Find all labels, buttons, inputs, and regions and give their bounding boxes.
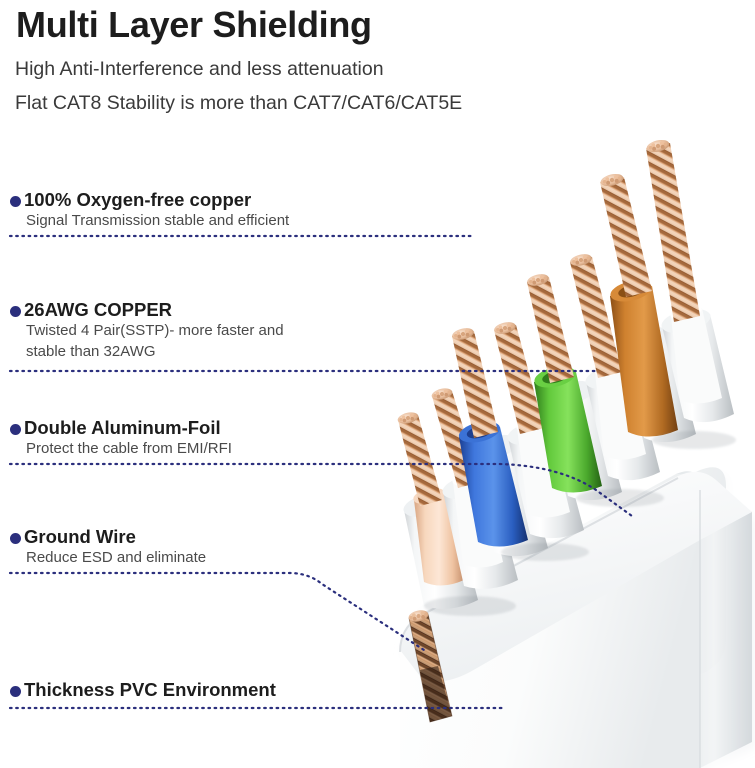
feature-heading: 26AWG COPPER	[24, 300, 172, 320]
bullet-dot-icon	[10, 533, 21, 544]
infographic-canvas: Multi Layer Shielding High Anti-Interfer…	[0, 0, 755, 768]
feature-callout-double-aluminum-foil: Double Aluminum-Foil Protect the cable f…	[10, 418, 232, 459]
feature-callout-thickness-pvc-environment: Thickness PVC Environment	[10, 680, 276, 700]
leader-line-3	[10, 464, 632, 516]
page-title: Multi Layer Shielding	[16, 4, 372, 46]
bullet-dot-icon	[10, 424, 21, 435]
feature-description: Protect the cable from EMI/RFI	[26, 439, 232, 459]
feature-description: Signal Transmission stable and efficient	[26, 211, 289, 231]
feature-description: Reduce ESD and eliminate	[26, 548, 206, 568]
feature-heading: 100% Oxygen-free copper	[24, 190, 251, 210]
subtitle-line-1: High Anti-Interference and less attenuat…	[15, 58, 384, 81]
feature-callout-26awg-copper: 26AWG COPPER Twisted 4 Pair(SSTP)- more …	[10, 300, 284, 362]
bullet-dot-icon	[10, 196, 21, 207]
leader-lines	[0, 0, 755, 768]
bullet-dot-icon	[10, 686, 21, 697]
feature-description: Twisted 4 Pair(SSTP)- more faster and	[26, 321, 284, 341]
feature-heading: Double Aluminum-Foil	[24, 418, 221, 438]
leader-line-4	[10, 573, 424, 650]
feature-description-line-2: stable than 32AWG	[26, 342, 284, 362]
feature-callout-ground-wire: Ground Wire Reduce ESD and eliminate	[10, 527, 206, 568]
feature-heading: Thickness PVC Environment	[24, 680, 276, 700]
feature-heading: Ground Wire	[24, 527, 136, 547]
subtitle-line-2: Flat CAT8 Stability is more than CAT7/CA…	[15, 92, 462, 115]
feature-callout-oxygen-free-copper: 100% Oxygen-free copper Signal Transmiss…	[10, 190, 289, 231]
bullet-dot-icon	[10, 306, 21, 317]
